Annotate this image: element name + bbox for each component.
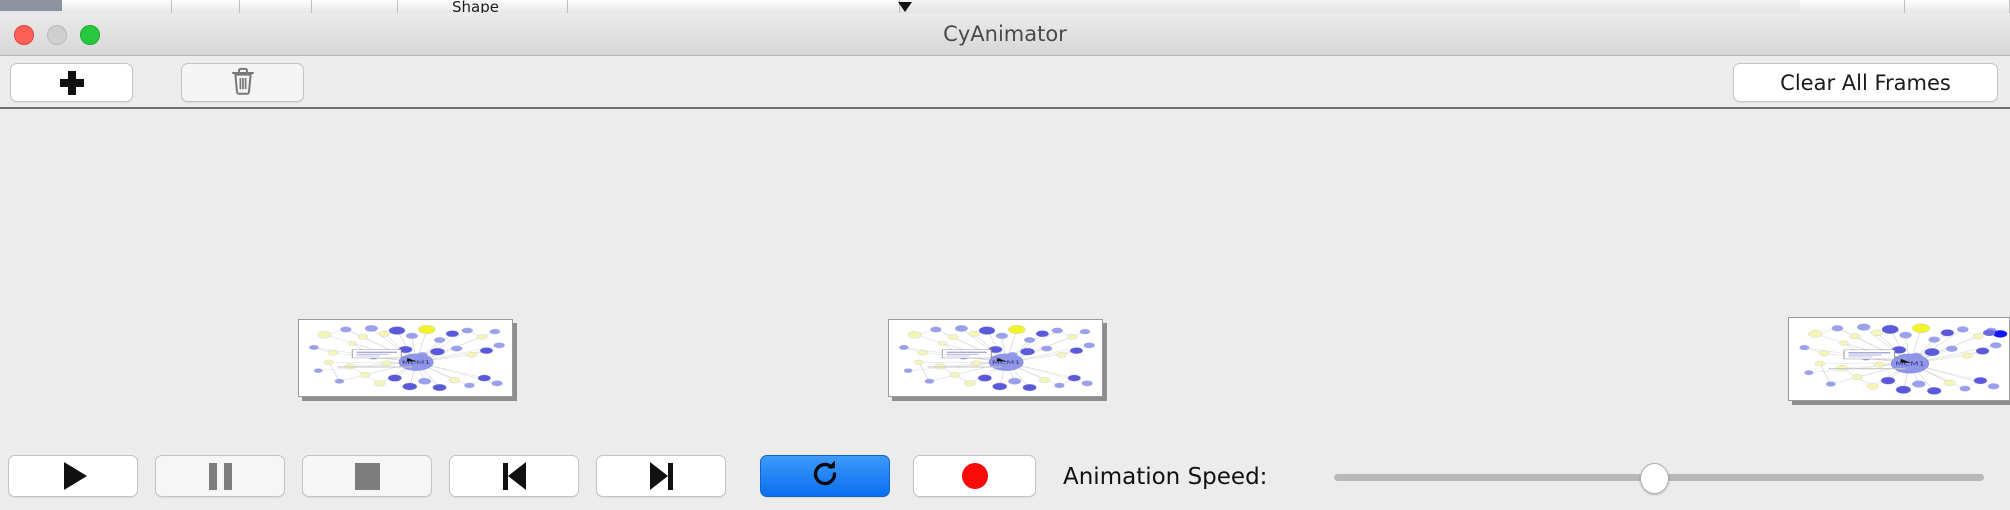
skip-forward-icon bbox=[650, 462, 673, 490]
clear-all-frames-button[interactable]: Clear All Frames bbox=[1733, 63, 1998, 102]
pause-icon bbox=[209, 463, 232, 490]
stop-icon bbox=[355, 463, 380, 490]
add-frame-button[interactable] bbox=[10, 63, 133, 102]
svg-text:MCM1: MCM1 bbox=[402, 360, 431, 366]
record-button[interactable] bbox=[913, 455, 1036, 497]
timeline-frame-thumbnail[interactable]: MCM1 bbox=[888, 319, 1103, 397]
plus-icon bbox=[59, 70, 85, 96]
loop-icon bbox=[809, 458, 841, 494]
pause-button[interactable] bbox=[155, 455, 285, 497]
background-window-tab bbox=[312, 0, 398, 13]
animation-speed-label: Animation Speed: bbox=[1063, 464, 1267, 490]
background-window-strip: Shape bbox=[0, 0, 2010, 13]
stop-button[interactable] bbox=[302, 455, 432, 497]
background-window-tab bbox=[1905, 0, 2010, 13]
svg-text:MCM1: MCM1 bbox=[992, 360, 1021, 366]
timeline-frame-thumbnail[interactable]: MCM1 bbox=[298, 319, 513, 397]
timeline-frame-thumbnail[interactable]: MCM1 bbox=[1788, 317, 2010, 401]
animation-speed-slider-thumb[interactable] bbox=[1640, 463, 1669, 494]
background-window-tab bbox=[172, 0, 240, 13]
background-window-tab bbox=[62, 0, 172, 13]
toolbar: Clear All Frames bbox=[0, 56, 2010, 109]
background-window-tab bbox=[240, 0, 312, 13]
background-window-label: Shape bbox=[452, 0, 499, 13]
cyanimator-window: Shape CyAnimator Clear All Frames bbox=[0, 0, 2010, 510]
skip-to-end-button[interactable] bbox=[596, 455, 726, 497]
background-window-marker bbox=[898, 2, 912, 12]
skip-to-start-button[interactable] bbox=[449, 455, 579, 497]
background-window-tab bbox=[568, 0, 900, 13]
play-icon bbox=[64, 462, 87, 490]
play-button[interactable] bbox=[8, 455, 138, 497]
titlebar: CyAnimator bbox=[0, 13, 2010, 56]
trash-icon bbox=[229, 66, 257, 100]
skip-back-icon bbox=[503, 462, 526, 490]
delete-frame-button[interactable] bbox=[181, 63, 304, 102]
record-icon bbox=[962, 463, 988, 489]
background-window-titlebar bbox=[0, 0, 62, 11]
timeline-panel[interactable]: MCM1 MCM1 MCM1 2131415161718 Seconds bbox=[0, 109, 2010, 410]
background-window-tab bbox=[1800, 0, 1905, 13]
window-title: CyAnimator bbox=[0, 13, 2010, 56]
loop-button[interactable] bbox=[760, 455, 890, 497]
playback-control-bar: Animation Speed: bbox=[0, 444, 2010, 510]
svg-text:MCM1: MCM1 bbox=[1895, 361, 1925, 367]
